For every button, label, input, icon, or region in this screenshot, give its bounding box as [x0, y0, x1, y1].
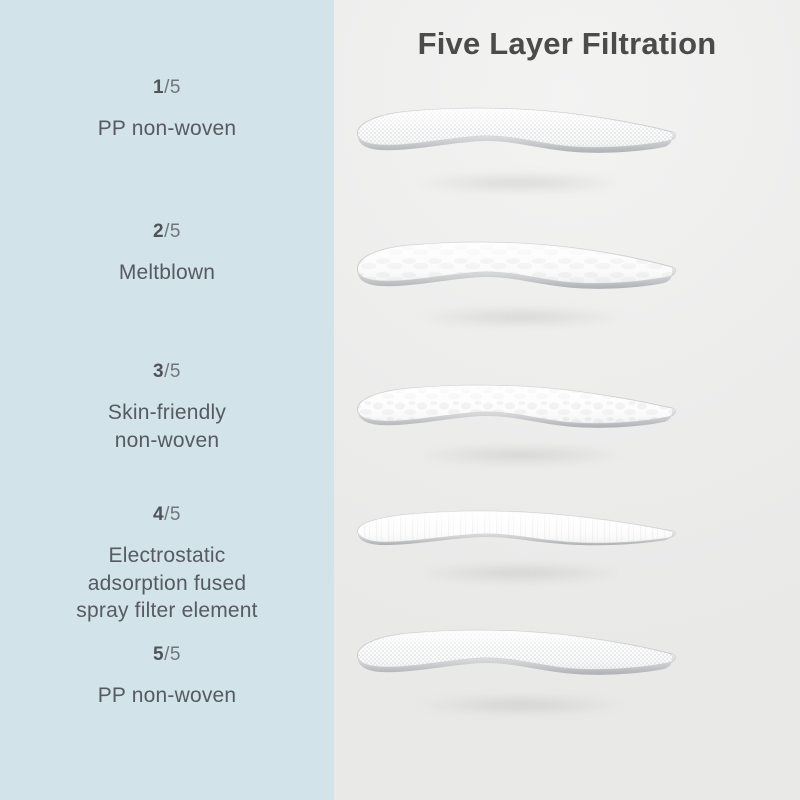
layer-index-denominator-2: /5 [164, 221, 181, 242]
layer-index-3: 3/5 [0, 362, 334, 381]
layer-title-line: Electrostatic [0, 542, 334, 570]
mask-layer-sheet-3 [350, 368, 680, 434]
layer-index-1: 1/5 [0, 78, 334, 97]
layer-label-4: 4/5 Electrostatic adsorption fused spray… [0, 505, 334, 625]
page-title: Five Layer Filtration [334, 26, 800, 62]
layer-index-number-1: 1 [153, 77, 164, 98]
layer-index-2: 2/5 [0, 222, 334, 241]
mask-layer-shadow-5 [386, 692, 656, 718]
layer-title-line: Skin-friendly [0, 399, 334, 427]
layer-title-3: Skin-friendly non-woven [0, 399, 334, 454]
layer-title-4: Electrostatic adsorption fused spray fil… [0, 542, 334, 625]
mask-layer-sheet-5 [350, 614, 680, 680]
layer-index-denominator-5: /5 [164, 644, 181, 665]
layer-title-line: adsorption fused [0, 570, 334, 598]
mask-layer-shadow-1 [386, 170, 656, 196]
layer-title-line: PP non-woven [0, 682, 334, 710]
layer-index-4: 4/5 [0, 505, 334, 524]
layer-title-line: spray filter element [0, 597, 334, 625]
layer-title-2: Meltblown [0, 259, 334, 287]
layer-index-number-4: 4 [153, 504, 164, 525]
layer-index-number-5: 5 [153, 644, 164, 665]
layer-index-5: 5/5 [0, 645, 334, 664]
mask-layer-shadow-4 [386, 560, 656, 586]
layer-title-line: PP non-woven [0, 115, 334, 143]
layer-illustration-panel: Five Layer Filtration [334, 0, 800, 800]
layer-title-line: Meltblown [0, 259, 334, 287]
layer-label-1: 1/5 PP non-woven [0, 78, 334, 143]
layer-title-1: PP non-woven [0, 115, 334, 143]
layer-label-3: 3/5 Skin-friendly non-woven [0, 362, 334, 454]
mask-layer-shadow-3 [386, 442, 656, 468]
layer-index-number-3: 3 [153, 361, 164, 382]
five-layer-filtration-infographic: 1/5 PP non-woven 2/5 Meltblown 3/5 Skin-… [0, 0, 800, 800]
layer-title-line: non-woven [0, 427, 334, 455]
layer-label-5: 5/5 PP non-woven [0, 645, 334, 710]
layer-label-panel: 1/5 PP non-woven 2/5 Meltblown 3/5 Skin-… [0, 0, 334, 800]
layer-index-denominator-3: /5 [164, 361, 181, 382]
mask-layer-sheet-4 [350, 487, 680, 553]
layer-index-denominator-1: /5 [164, 77, 181, 98]
mask-layer-sheet-1 [350, 92, 680, 158]
layer-index-number-2: 2 [153, 221, 164, 242]
layer-label-2: 2/5 Meltblown [0, 222, 334, 287]
layer-index-denominator-4: /5 [164, 504, 181, 525]
layer-title-5: PP non-woven [0, 682, 334, 710]
mask-layer-sheet-2 [350, 228, 680, 294]
mask-layer-shadow-2 [386, 304, 656, 330]
